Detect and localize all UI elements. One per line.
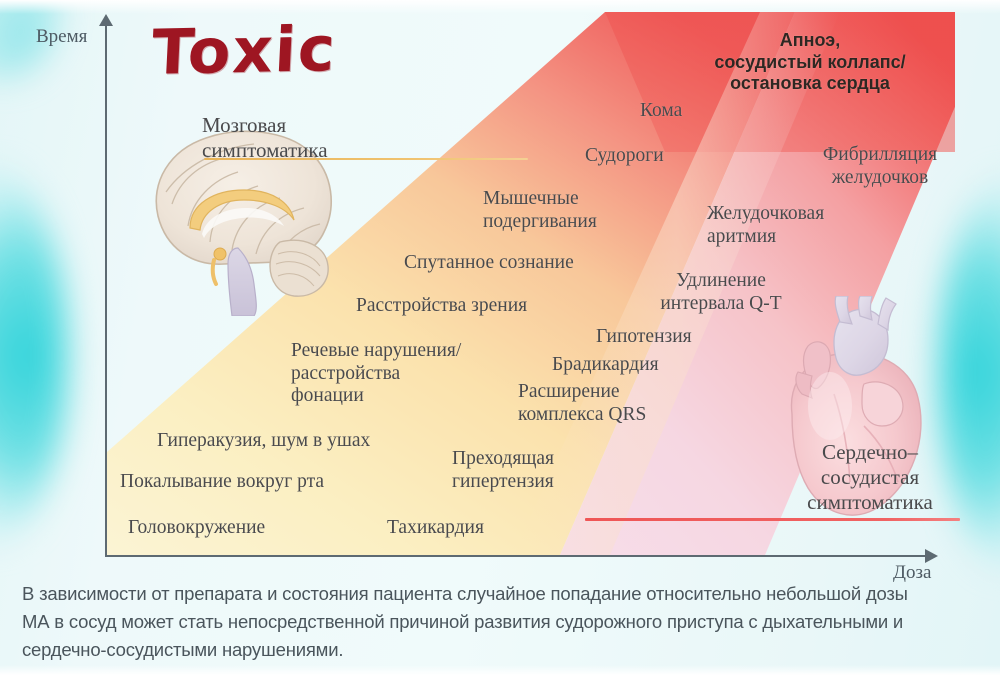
symptom-label: Кома bbox=[640, 100, 760, 123]
symptom-label: Речевые нарушения/ расстройства фонации bbox=[291, 340, 521, 408]
symptom-label: Фибрилляция желудочков bbox=[795, 144, 965, 189]
symptom-label: Спутанное сознание bbox=[404, 252, 634, 275]
symptom-label: Удлинение интервала Q-T bbox=[631, 270, 811, 315]
symptom-label: Гипотензия bbox=[596, 326, 746, 349]
symptom-label: Преходящая гипертензия bbox=[452, 448, 622, 493]
x-axis-line bbox=[105, 555, 930, 557]
symptom-label: Расстройства зрения bbox=[356, 295, 596, 318]
symptom-label: Апноэ, сосудистый коллапс/ остановка сер… bbox=[685, 30, 935, 95]
symptom-label: Мышечные подергивания bbox=[483, 188, 643, 233]
symptom-label: Головокружение bbox=[128, 517, 338, 540]
caption-text: В зависимости от препарата и состояния п… bbox=[22, 580, 932, 664]
y-axis-label: Время bbox=[36, 26, 87, 48]
x-axis-arrow bbox=[925, 549, 938, 563]
y-axis-arrow bbox=[99, 14, 113, 26]
symptom-label: Брадикардия bbox=[552, 354, 722, 377]
symptom-label: Гиперакузия, шум в ушах bbox=[157, 430, 457, 453]
symptom-label: Покалывание вокруг рта bbox=[120, 471, 410, 494]
heart-callout-label: Сердечно– сосудистая симптоматика bbox=[778, 440, 962, 514]
brain-callout-rule bbox=[204, 158, 528, 160]
symptom-label: Тахикардия bbox=[387, 517, 557, 540]
page-title: Toxic bbox=[150, 12, 338, 89]
y-axis-line bbox=[105, 22, 107, 557]
symptom-label: Желудочковая аритмия bbox=[707, 203, 872, 248]
bottom-fade bbox=[0, 665, 1000, 675]
heart-callout-rule bbox=[585, 518, 960, 521]
slide-canvas: Время Доза Toxic bbox=[0, 0, 1000, 675]
brain-callout-label: Мозговая симптоматика bbox=[202, 113, 382, 163]
symptom-label: Расширение комплекса QRS bbox=[518, 381, 703, 426]
symptom-label: Судороги bbox=[585, 145, 725, 168]
